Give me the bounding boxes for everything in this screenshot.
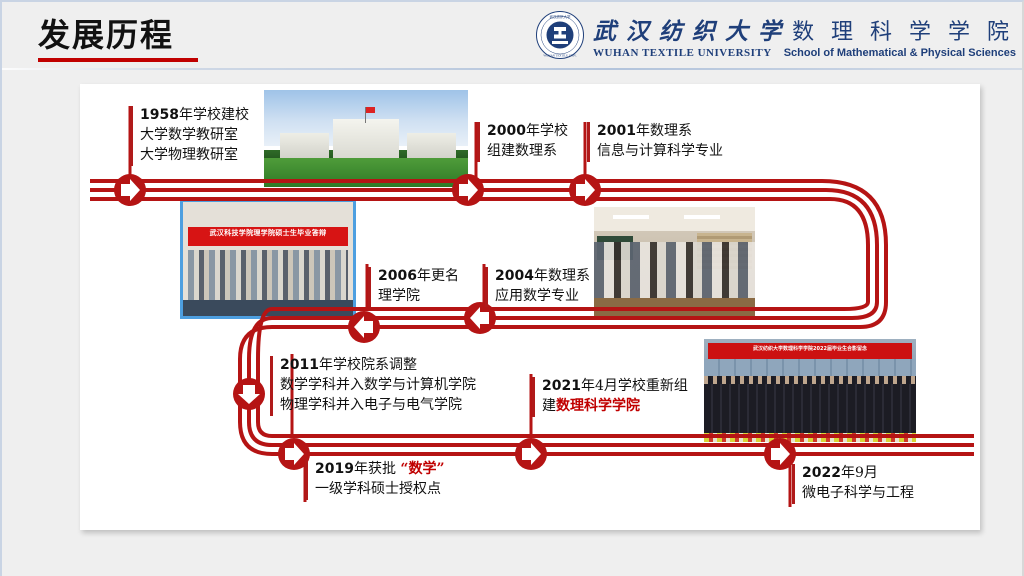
photo-graduate-heads bbox=[704, 376, 916, 384]
label-line: 理学院 bbox=[378, 287, 459, 307]
label-line: 物理学科并入电子与电气学院 bbox=[280, 396, 476, 416]
svg-text:武汉纺织大学: 武汉纺织大学 bbox=[550, 14, 571, 19]
university-logo: 武汉纺织大学 WUHAN TEXTILE UNIV. 武 汉 纺 织 大 学 数… bbox=[535, 6, 1016, 64]
header-divider bbox=[2, 68, 1024, 70]
photo-ceiling-light-1 bbox=[613, 215, 648, 219]
label-year: 2000 bbox=[487, 123, 526, 139]
photo-flowerbed bbox=[704, 433, 916, 442]
svg-text:WUHAN TEXTILE UNIV.: WUHAN TEXTILE UNIV. bbox=[543, 54, 577, 58]
slide-canvas: 发展历程 武汉纺织大学 WUHAN TEXTILE UNIV. 武 汉 纺 织 … bbox=[0, 0, 1024, 576]
label-line: 微电子科学与工程 bbox=[802, 484, 914, 504]
label-line: 2021年4月学校重新组 bbox=[542, 377, 688, 397]
label-line: 信息与计算科学专业 bbox=[597, 142, 723, 162]
timeline-label-2001: 2001年数理系 信息与计算科学专业 bbox=[587, 122, 723, 162]
label-line: 2011年学校院系调整 bbox=[280, 356, 476, 376]
label-year: 2006 bbox=[378, 268, 417, 284]
label-year: 2022 bbox=[802, 465, 841, 481]
label-highlight: 数理科学学院 bbox=[556, 398, 640, 414]
campus-building-photo bbox=[264, 90, 468, 187]
timeline-label-2011: 2011年学校院系调整 数学学科并入数学与计算机学院 物理学科并入电子与电气学院 bbox=[270, 356, 476, 416]
label-line: 2004年数理系 bbox=[495, 267, 590, 287]
label-line: 2022年9月 bbox=[802, 464, 914, 484]
timeline-label-2019: 2019年获批 “数学” 一级学科硕士授权点 bbox=[305, 460, 445, 500]
label-line: 2001年数理系 bbox=[597, 122, 723, 142]
photo-people-row bbox=[188, 250, 348, 300]
logo-text-block: 武 汉 纺 织 大 学 数 理 科 学 学 院 WUHAN TEXTILE UN… bbox=[593, 12, 1016, 59]
graduation-banner-text: 武汉纺织大学数理科学学院2022届毕业生合影留念 bbox=[708, 343, 912, 356]
label-year: 2004 bbox=[495, 268, 534, 284]
logo-chinese-row: 武 汉 纺 织 大 学 数 理 科 学 学 院 bbox=[593, 12, 1016, 46]
photo-building-right bbox=[407, 133, 456, 159]
timeline-label-2021: 2021年4月学校重新组 建数理科学学院 bbox=[532, 377, 688, 417]
photo-students bbox=[594, 242, 755, 299]
logo-university-cn: 武 汉 纺 织 大 学 bbox=[593, 12, 782, 46]
title-underline bbox=[38, 58, 198, 62]
label-year: 2021 bbox=[542, 378, 581, 394]
label-line: 1958年学校建校 bbox=[140, 106, 249, 126]
logo-school-cn: 数 理 科 学 学 院 bbox=[792, 14, 1014, 46]
timeline-label-2000: 2000年学校 组建数理系 bbox=[477, 122, 568, 162]
label-year: 2011 bbox=[280, 357, 319, 373]
logo-school-en: School of Mathematical & Physical Scienc… bbox=[784, 47, 1016, 59]
masters-defense-group-photo: 武汉科技学院理学院硕士生毕业答辩 bbox=[180, 199, 356, 319]
label-line: 2019年获批 “数学” bbox=[315, 460, 445, 480]
timeline-label-1958: 1958年学校建校 大学数学教研室 大学物理教研室 bbox=[130, 106, 249, 166]
photo-banner: 武汉纺织大学数理科学学院2022届毕业生合影留念 bbox=[708, 343, 912, 358]
photo-building-main bbox=[333, 119, 398, 160]
timeline-label-2006: 2006年更名 理学院 bbox=[368, 267, 459, 307]
label-line: 一级学科硕士授权点 bbox=[315, 480, 445, 500]
label-line: 大学数学教研室 bbox=[140, 126, 249, 146]
timeline-label-2004: 2004年数理系 应用数学专业 bbox=[485, 267, 590, 307]
label-line: 2006年更名 bbox=[378, 267, 459, 287]
label-line: 大学物理教研室 bbox=[140, 146, 249, 166]
label-line: 数学学科并入数学与计算机学院 bbox=[280, 376, 476, 396]
graduation-class-photo: 武汉纺织大学数理科学学院2022届毕业生合影留念 bbox=[704, 339, 916, 442]
logo-university-en: WUHAN TEXTILE UNIVERSITY bbox=[593, 47, 772, 59]
university-seal-icon: 武汉纺织大学 WUHAN TEXTILE UNIV. bbox=[535, 10, 585, 60]
page-title: 发展历程 bbox=[38, 18, 174, 53]
label-line: 组建数理系 bbox=[487, 142, 568, 162]
timeline-label-2022: 2022年9月 微电子科学与工程 bbox=[792, 464, 914, 504]
photo-lab-bench bbox=[594, 298, 755, 317]
physics-lab-photo bbox=[594, 207, 755, 317]
photo-building-left bbox=[280, 133, 329, 159]
logo-english-row: WUHAN TEXTILE UNIVERSITY School of Mathe… bbox=[593, 47, 1016, 59]
photo-table bbox=[183, 300, 353, 316]
photo-banner: 武汉科技学院理学院硕士生毕业答辩 bbox=[188, 227, 348, 246]
photo-graduate-rows bbox=[704, 376, 916, 433]
label-line: 2000年学校 bbox=[487, 122, 568, 142]
label-line: 应用数学专业 bbox=[495, 287, 590, 307]
photo-flag bbox=[366, 107, 375, 113]
label-year: 2019 bbox=[315, 461, 354, 477]
label-highlight: “数学” bbox=[400, 461, 444, 477]
photo-ceiling-light-2 bbox=[684, 215, 719, 219]
photo-lawn bbox=[264, 158, 468, 187]
photo-ceiling bbox=[594, 207, 755, 231]
label-year: 2001 bbox=[597, 123, 636, 139]
label-line: 建数理科学学院 bbox=[542, 397, 688, 417]
defense-banner-text: 武汉科技学院理学院硕士生毕业答辩 bbox=[188, 227, 348, 240]
label-year: 1958 bbox=[140, 107, 179, 123]
